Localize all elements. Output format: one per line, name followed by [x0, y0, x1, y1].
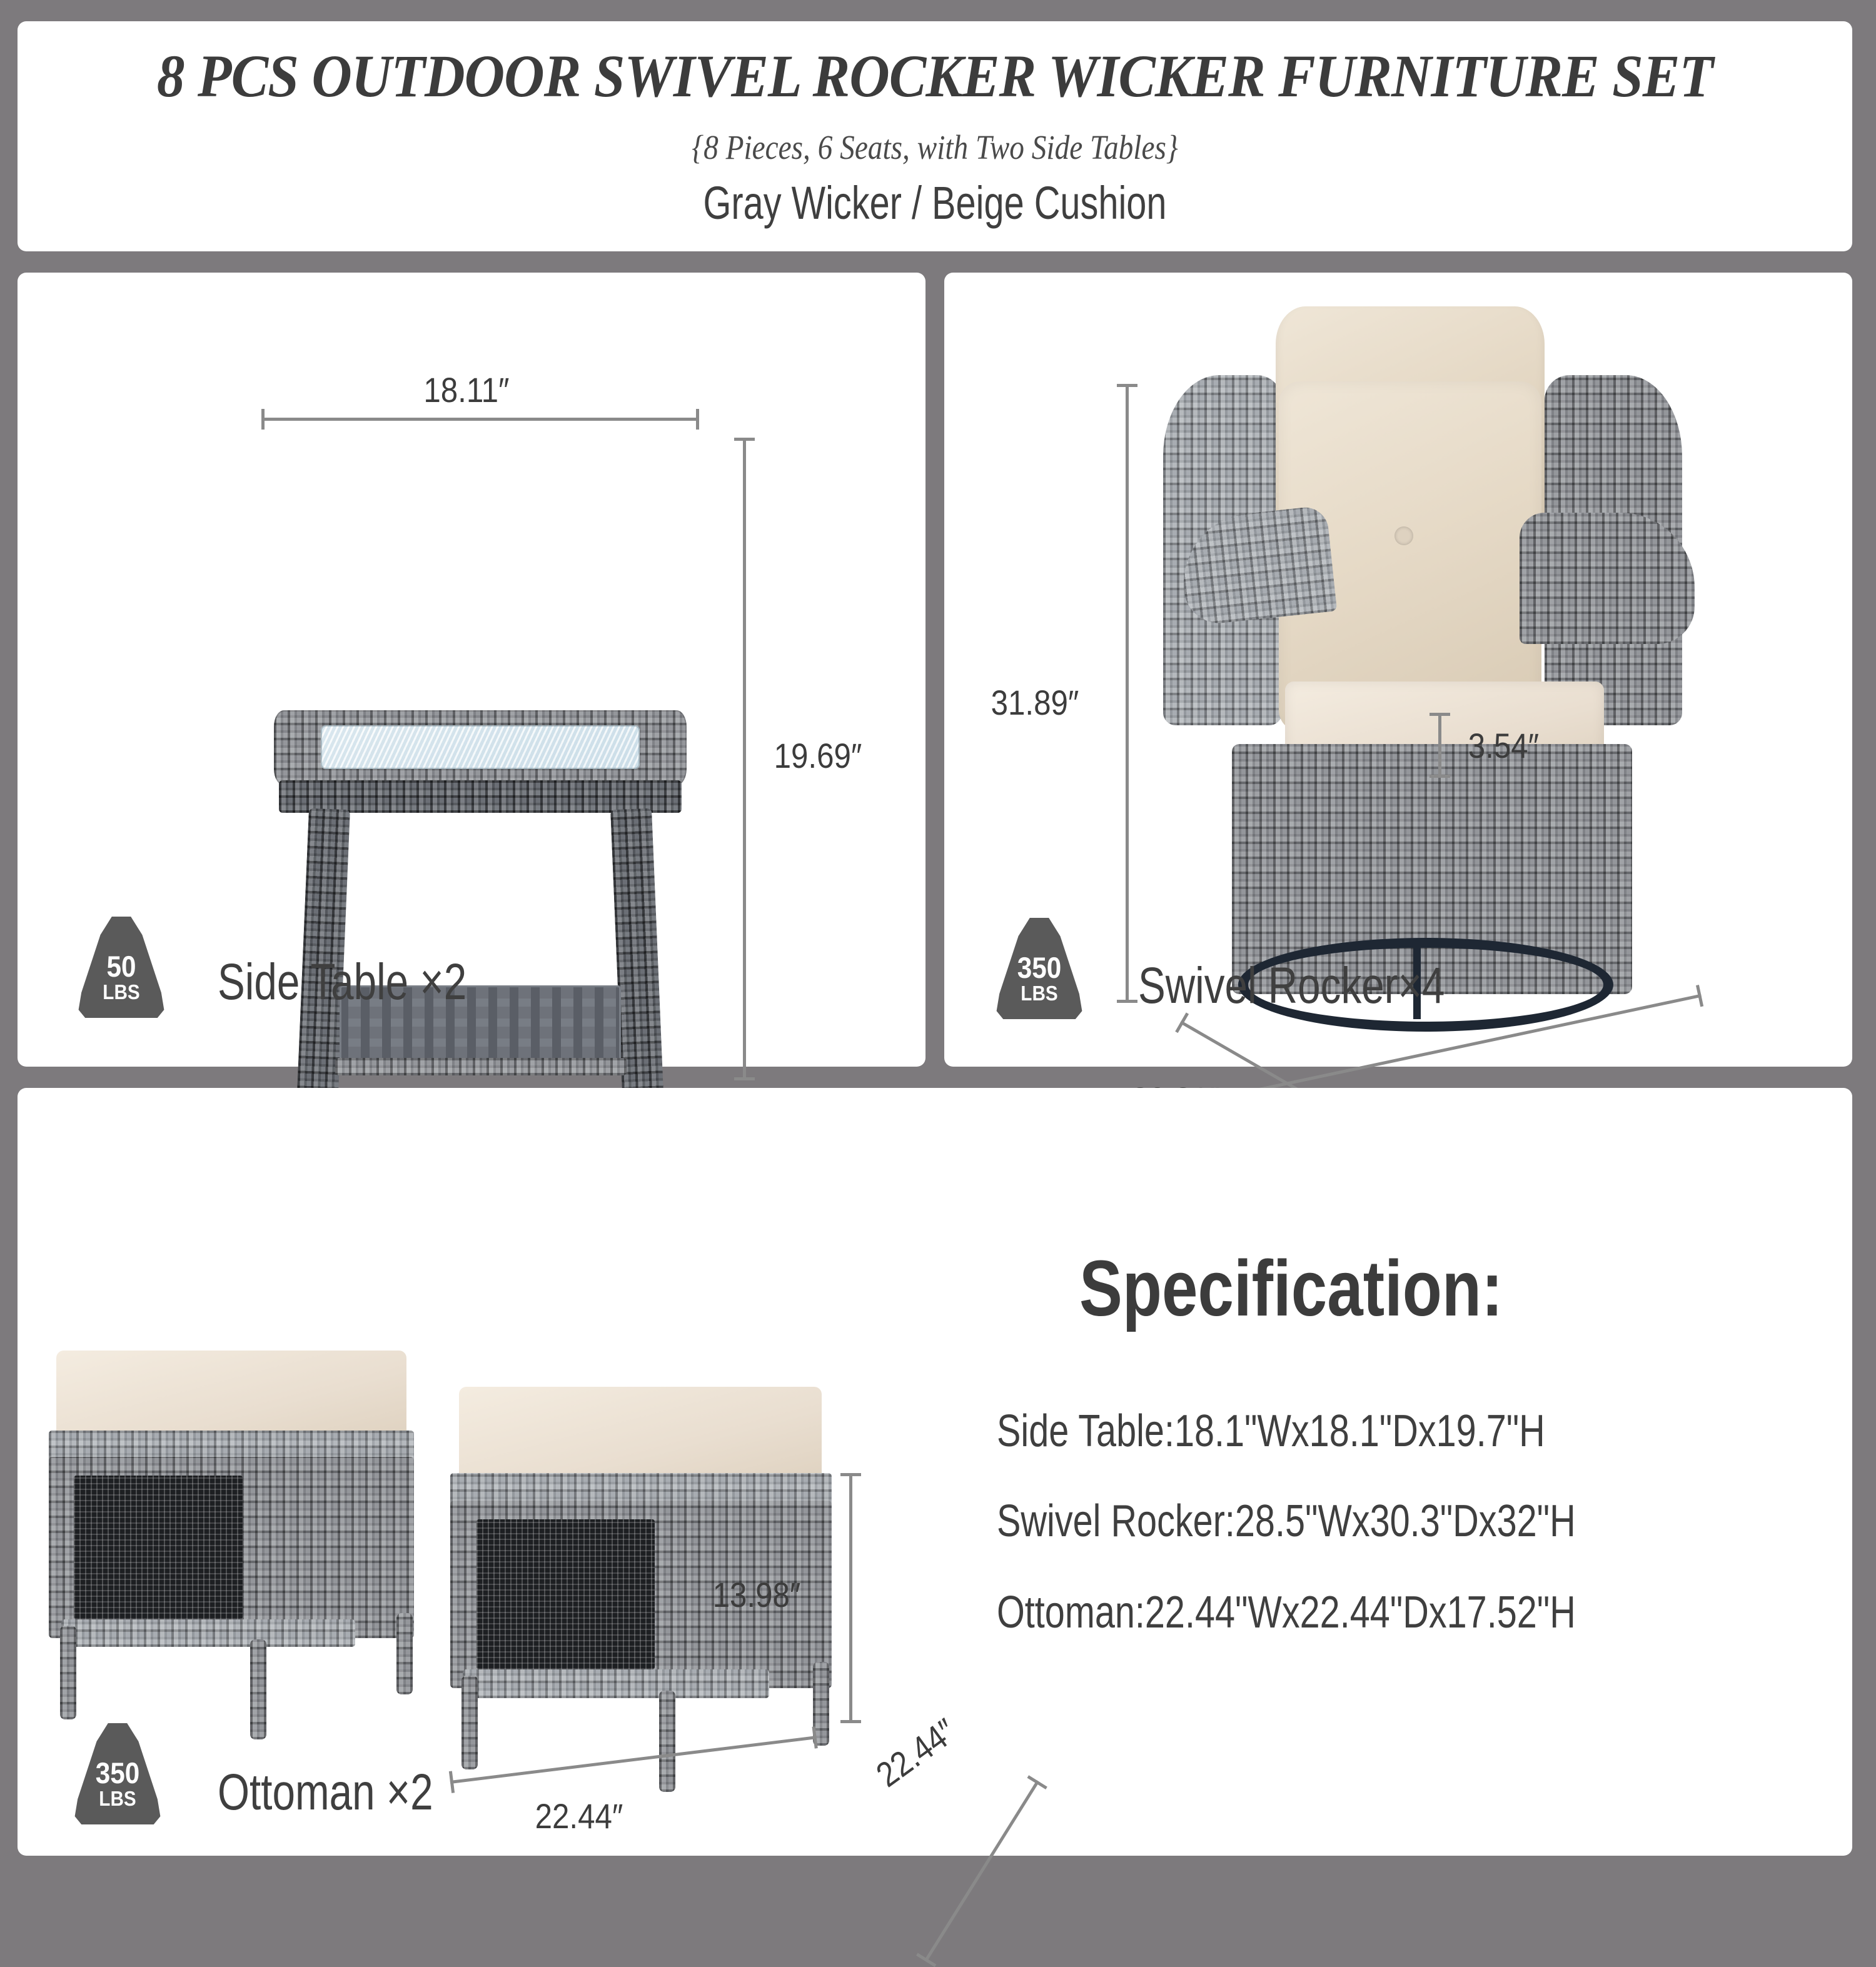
rocker-height-rule [1126, 384, 1129, 1003]
spec-line-swivel-rocker: Swivel Rocker:28.5"Wx30.3"Dx32"H [997, 1496, 1576, 1547]
ottoman-and-spec-panel: 13.98″ 22.44″ 22.44″ 350 LBS Ottoman ×2 [18, 1088, 1852, 1856]
badge-unit: LBS [79, 982, 164, 1002]
swivel-rocker-panel: 31.89″ 3.54″ 30.31″ 28.54″ 350 L [944, 273, 1852, 1067]
badge-value: 350 [75, 1758, 161, 1788]
ottoman-height-label: 13.98″ [713, 1574, 801, 1615]
side-table-width-rule [261, 418, 699, 421]
side-table-height-label: 19.69″ [774, 735, 862, 776]
ottoman-leg [659, 1691, 675, 1792]
side-table-caption: Side Table ×2 [218, 953, 466, 1012]
spec-line-ottoman: Ottoman:22.44"Wx22.44"Dx17.52"H [997, 1587, 1576, 1638]
ottoman-caption: Ottoman ×2 [218, 1763, 433, 1822]
badge-unit: LBS [75, 1788, 161, 1809]
ottoman-leg [250, 1639, 266, 1739]
rocker-height-label: 31.89″ [991, 682, 1079, 723]
badge-value: 350 [997, 953, 1082, 982]
ottoman-leg [396, 1613, 413, 1694]
side-table-shelf-rim [335, 1058, 627, 1075]
rocker-cushion-label: 3.54″ [1468, 725, 1539, 766]
spec-line-side-table: Side Table:18.1"Wx18.1"Dx19.7"H [997, 1406, 1545, 1457]
color-variant-label: Gray Wicker / Beige Cushion [219, 176, 1651, 229]
ottoman-bottom-rail [61, 1619, 355, 1647]
side-table-height-rule [743, 438, 746, 1080]
ottoman-inner-cavity [74, 1476, 243, 1619]
ottoman-leg [60, 1626, 76, 1719]
rocker-armrest-right [1520, 513, 1695, 644]
page-subtitle: {8 Pieces, 6 Seats, with Two Side Tables… [146, 128, 1723, 167]
rocker-weight-badge: 350 LBS [992, 918, 1087, 1019]
header-panel: 8 PCS OUTDOOR SWIVEL ROCKER WICKER FURNI… [18, 21, 1852, 251]
side-table-apron [279, 780, 682, 813]
rocker-cushion-button [1394, 526, 1413, 545]
ottoman-bottom-rail [463, 1669, 769, 1698]
product-spec-sheet: 8 PCS OUTDOOR SWIVEL ROCKER WICKER FURNI… [0, 0, 1876, 1876]
side-table-panel: 18.11″ 19.69″ 50 LBS Side Table ×2 [18, 273, 925, 1067]
ottoman-illustration-2 [444, 1387, 857, 1737]
ottoman-inner-cavity [477, 1519, 655, 1669]
ottoman-width-rule [450, 1736, 817, 1784]
ottoman-weight-badge: 350 LBS [70, 1723, 165, 1824]
page-title: 8 PCS OUTDOOR SWIVEL ROCKER WICKER FURNI… [82, 41, 1788, 111]
ottoman-depth-rule [924, 1780, 1039, 1962]
specification-title: Specification: [1079, 1243, 1503, 1334]
ottoman-depth-label: 22.44″ [869, 1710, 964, 1794]
ottoman-width-label: 22.44″ [535, 1796, 623, 1836]
badge-unit: LBS [997, 983, 1082, 1004]
badge-value: 50 [79, 952, 164, 981]
ottoman-leg [461, 1676, 478, 1769]
ottoman-cushion [459, 1387, 822, 1487]
side-table-weight-badge: 50 LBS [74, 917, 169, 1018]
side-table-glass-top [321, 725, 640, 769]
rocker-cushion-rule [1438, 713, 1441, 778]
rocker-caption: Swivel Rocker×4 [1138, 957, 1445, 1015]
ottoman-height-rule [849, 1473, 852, 1723]
swivel-rocker-illustration [1144, 306, 1732, 1019]
ottoman-illustration-1 [44, 1351, 431, 1701]
side-table-width-label: 18.11″ [423, 370, 509, 410]
